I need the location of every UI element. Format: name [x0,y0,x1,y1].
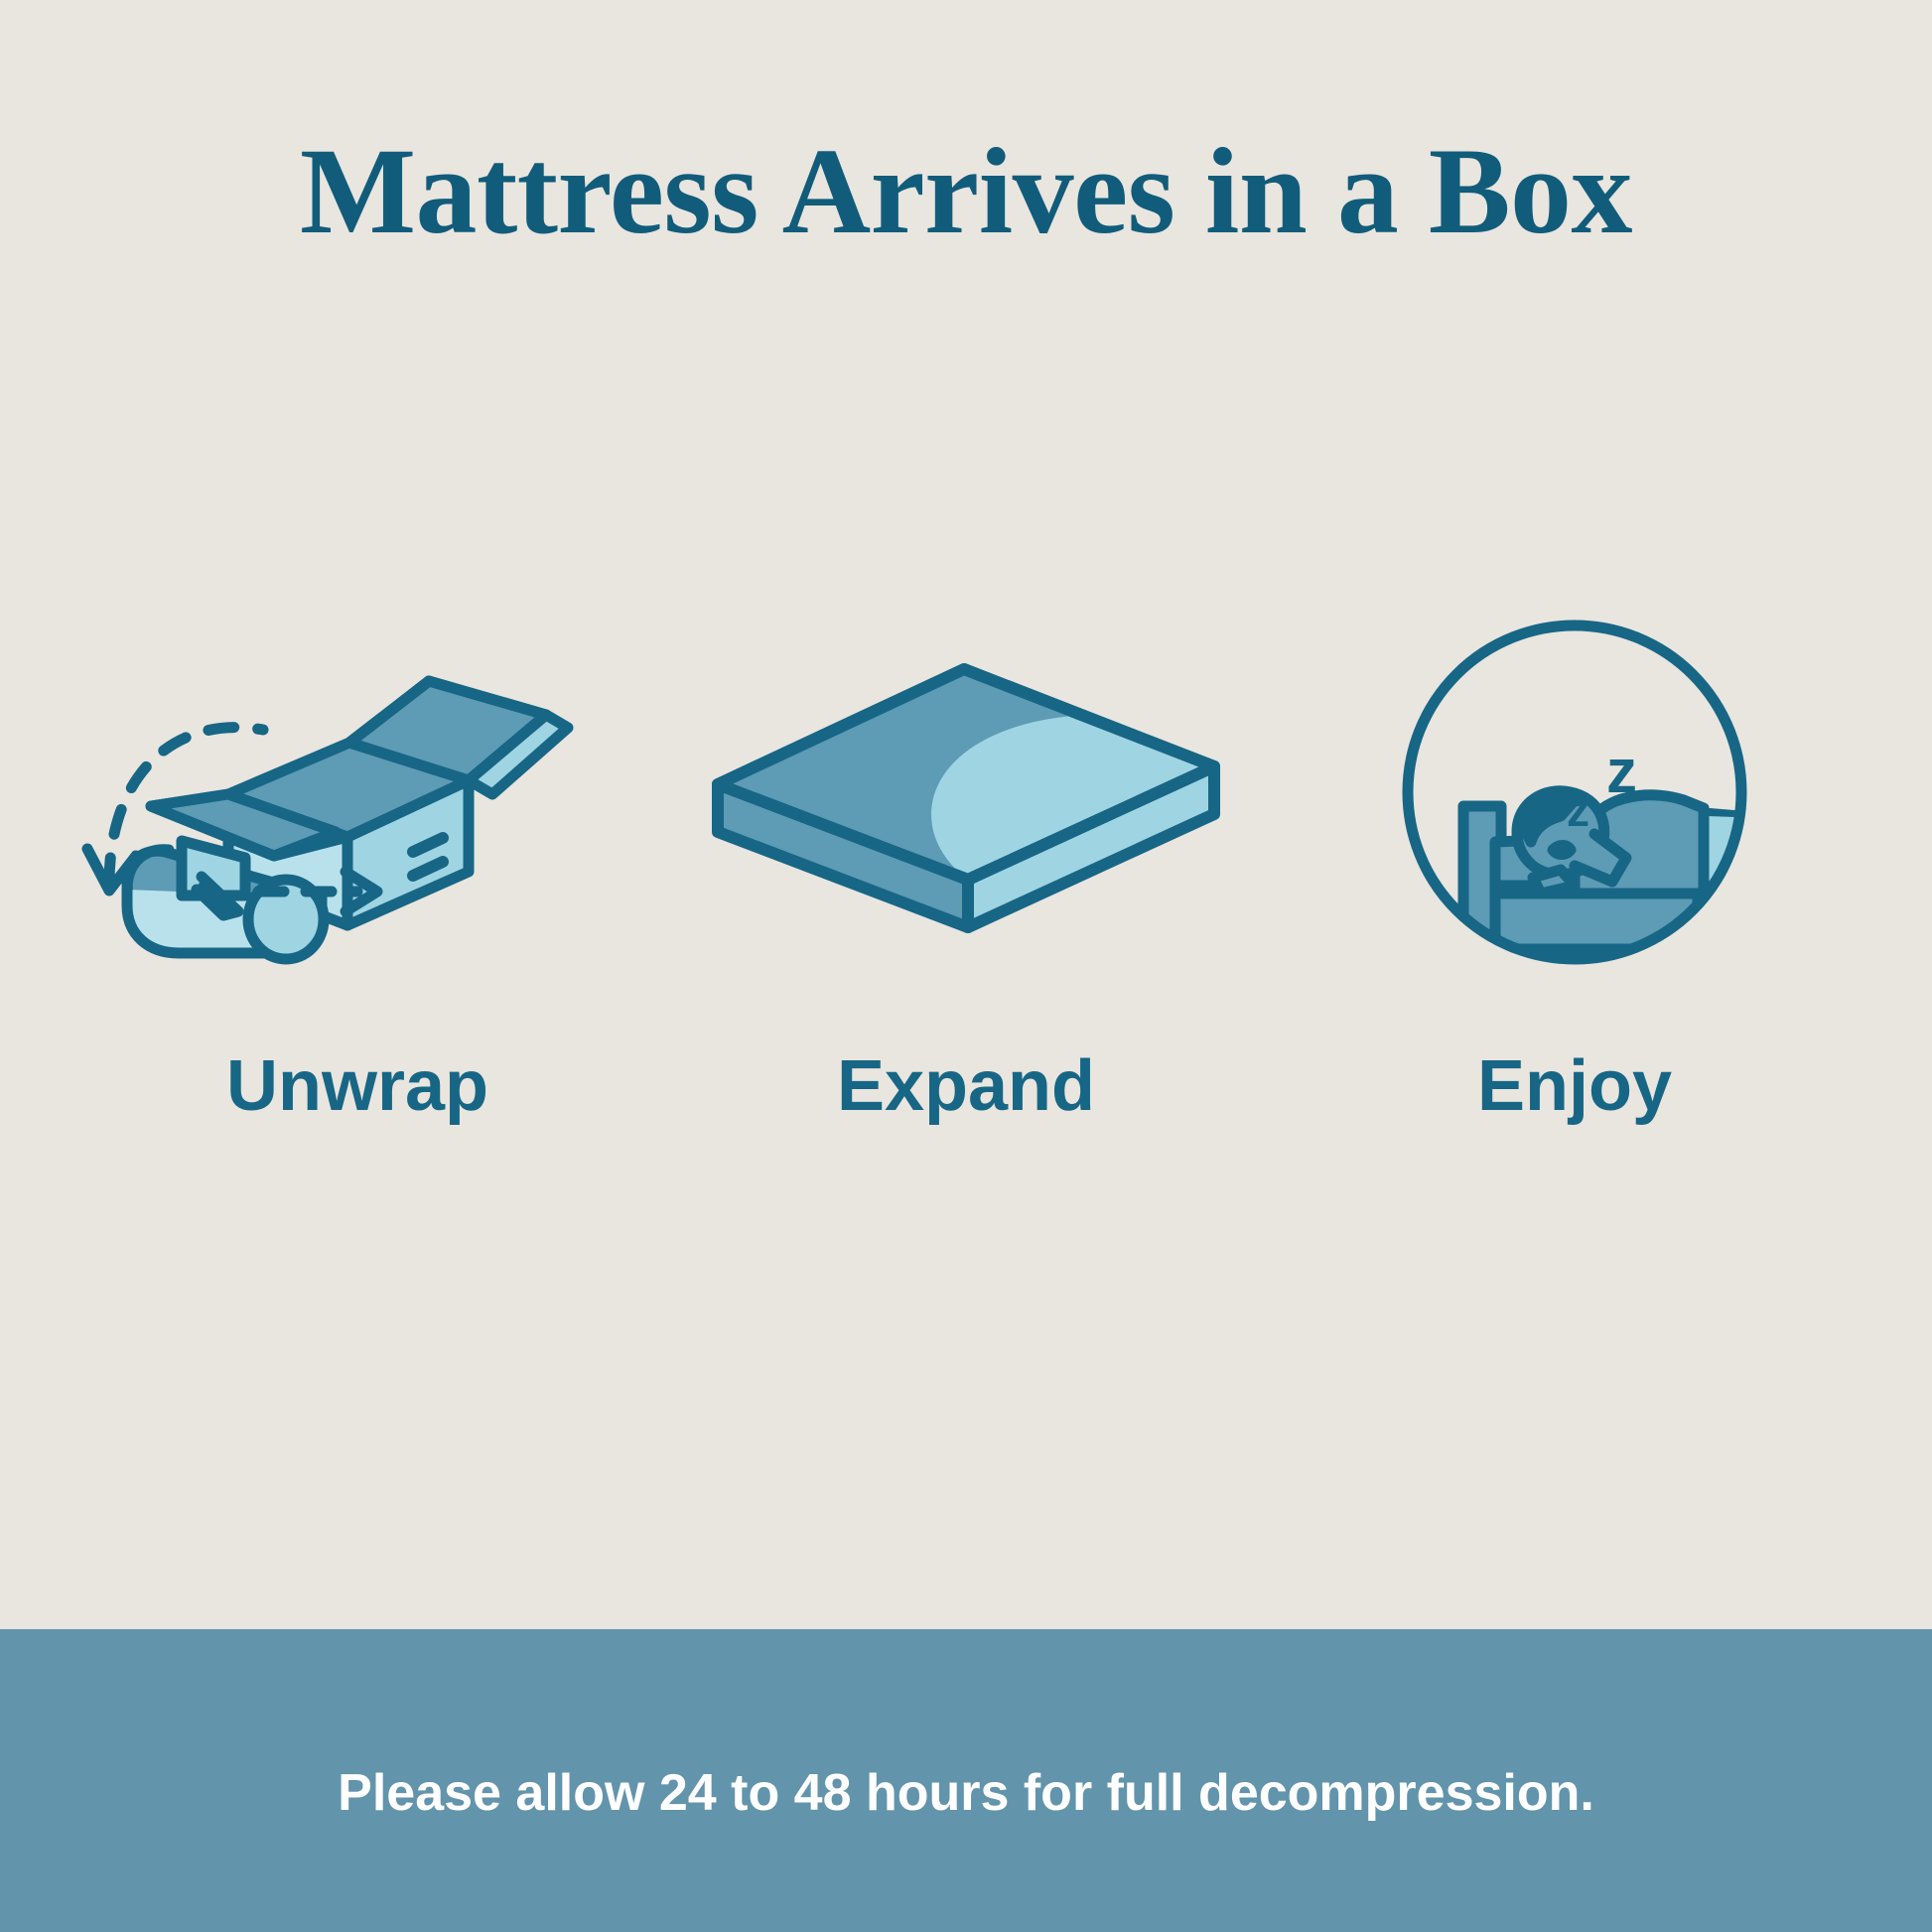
decompression-note: Please allow 24 to 48 hours for full dec… [338,1767,1594,1819]
step-label-enjoy: Enjoy [1477,1050,1672,1122]
sleep-z-small: z [1567,784,1589,836]
person-sleeping-in-bed-icon: z z [1297,596,1853,993]
page-title: Mattress Arrives in a Box [0,127,1932,256]
title-container: Mattress Arrives in a Box [0,127,1932,256]
step-expand: Expand [668,596,1264,1122]
sleep-z-large: z [1606,738,1637,806]
bed-base [1495,894,1698,949]
step-enjoy: z z Enjoy [1277,596,1872,1122]
step-label-unwrap: Unwrap [226,1050,488,1122]
decompression-banner: Please allow 24 to 48 hours for full dec… [0,1629,1932,1932]
mattress-in-a-box-infographic: Mattress Arrives in a Box [0,0,1932,1932]
person-eye-closed [1553,846,1571,855]
step-unwrap: Unwrap [60,596,655,1122]
flat-mattress-icon [688,596,1244,993]
step-label-expand: Expand [837,1050,1095,1122]
box-with-rolled-mattress-icon [79,596,635,993]
steps-row: Unwrap [0,596,1932,1122]
